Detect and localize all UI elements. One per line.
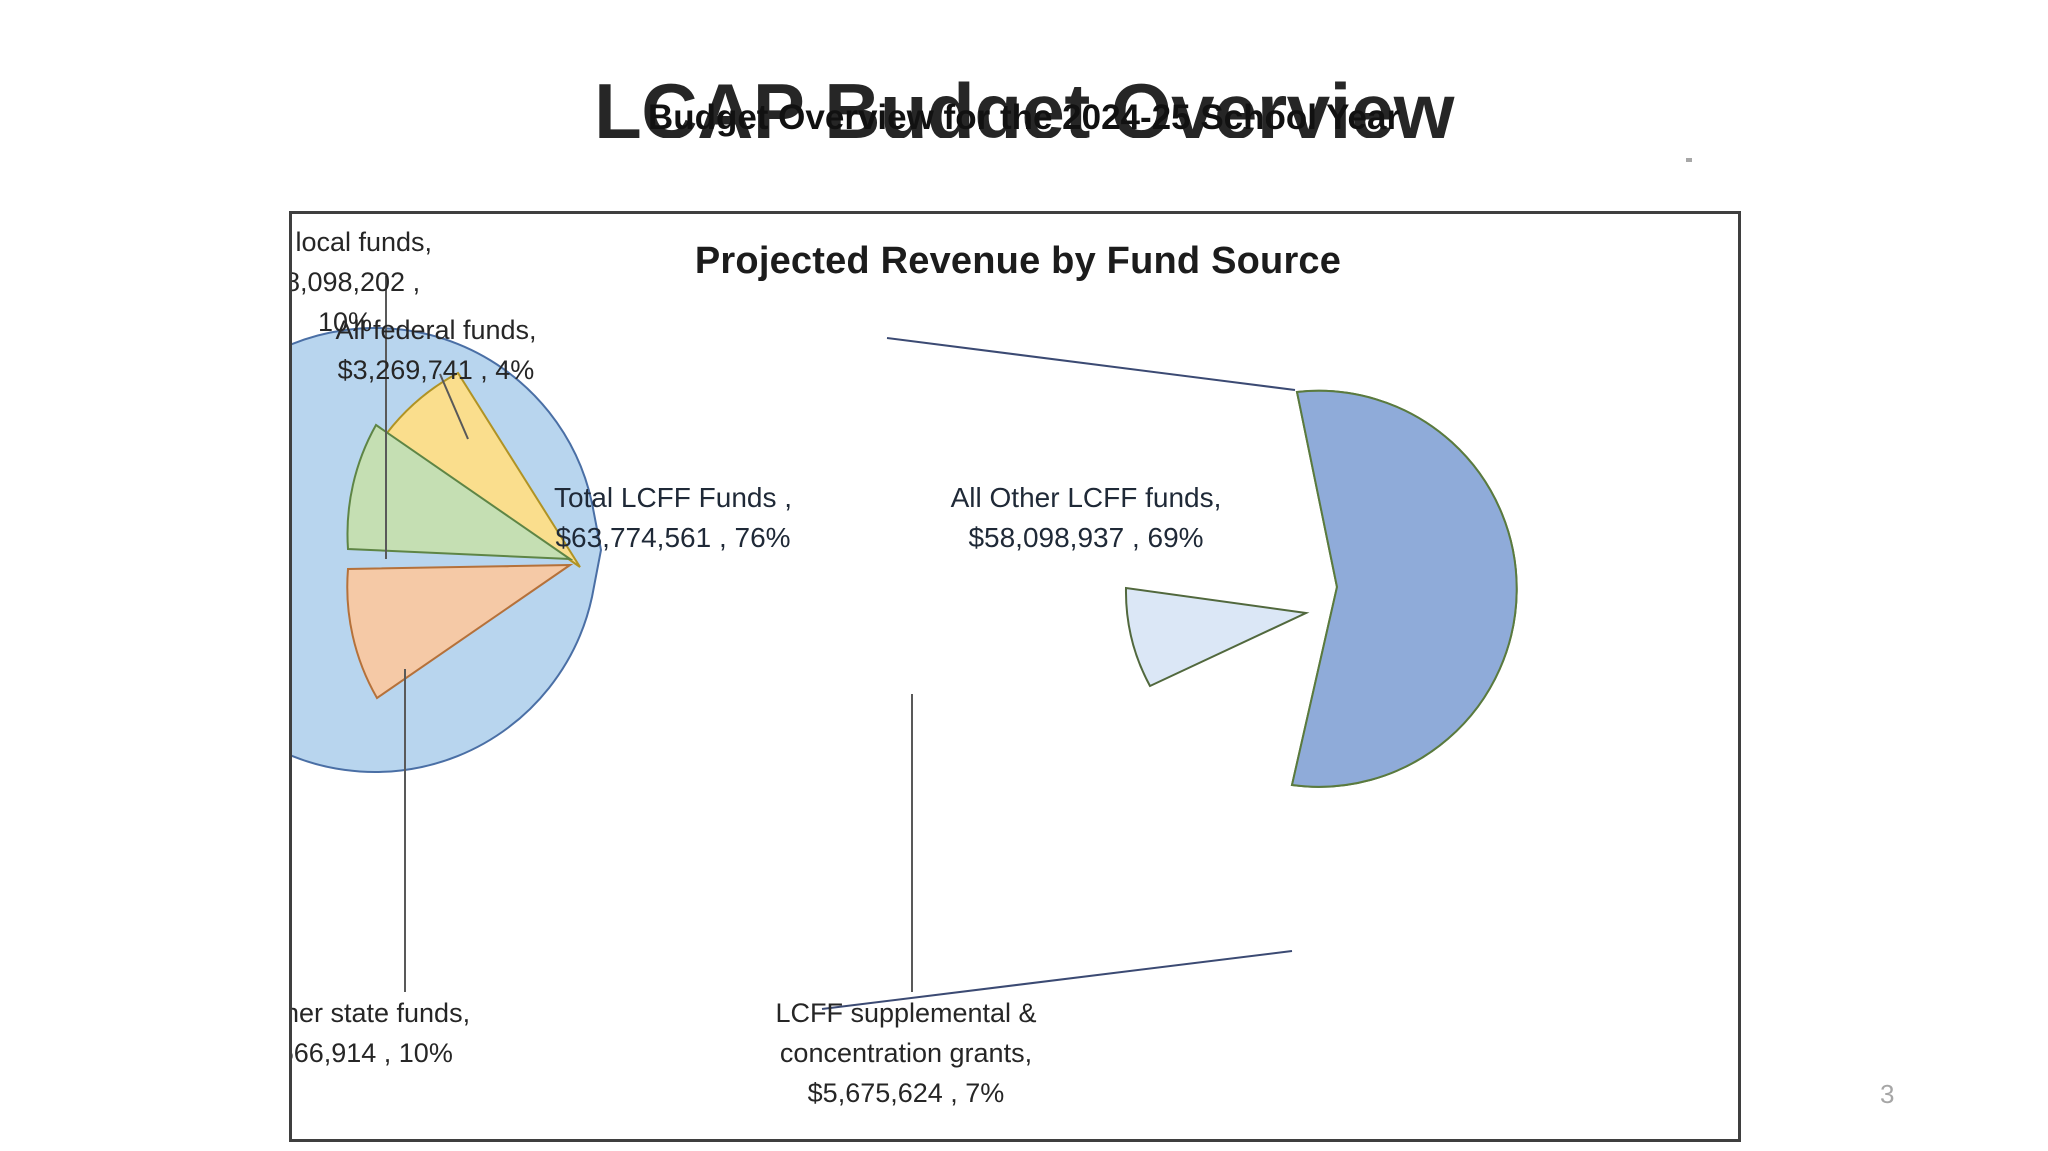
label-lcff-supplemental-line3: $5,675,624 , 7%	[808, 1078, 1005, 1108]
stray-artifact-mark	[1686, 158, 1692, 162]
pie-slice-all-other-lcff-funds-body[interactable]	[1292, 391, 1517, 787]
label-all-federal-funds-line1: All federal funds,	[335, 315, 536, 345]
chart-frame: Projected Revenue by Fund Source	[289, 211, 1741, 1142]
pie-of-pie-chart: All local funds, $8,098,202 , 10% All fe…	[292, 214, 1744, 1145]
label-lcff-supplemental-line2: concentration grants,	[780, 1038, 1032, 1068]
label-all-local-funds-line2: $8,098,202 ,	[292, 267, 420, 297]
slide-canvas: LCAP Budget Overview Budget Overview for…	[0, 0, 2048, 1151]
connector-band	[812, 337, 1092, 1014]
label-all-other-state-funds-line2: $8,566,914 , 10%	[292, 1038, 453, 1068]
page-number: 3	[1880, 1079, 1894, 1110]
page-subtitle: Budget Overview for the 2024-25 School Y…	[0, 98, 2048, 138]
label-total-lcff-funds-line2: $63,774,561 , 76%	[555, 522, 790, 553]
label-total-lcff-funds-line1: Total LCFF Funds ,	[554, 482, 792, 513]
label-all-other-lcff-funds-line2: $58,098,937 , 69%	[968, 522, 1203, 553]
label-all-other-state-funds-line1: All other state funds,	[292, 998, 470, 1028]
connector-line-top	[887, 338, 1295, 390]
label-lcff-supplemental-line1: LCFF supplemental &	[775, 998, 1036, 1028]
label-all-other-lcff-funds-line1: All Other LCFF funds,	[951, 482, 1222, 513]
pie-slice-lcff-supplemental-concentration[interactable]	[1126, 588, 1306, 686]
label-all-federal-funds-line2: $3,269,741 , 4%	[338, 355, 535, 385]
label-all-local-funds-line1: All local funds,	[292, 227, 432, 257]
